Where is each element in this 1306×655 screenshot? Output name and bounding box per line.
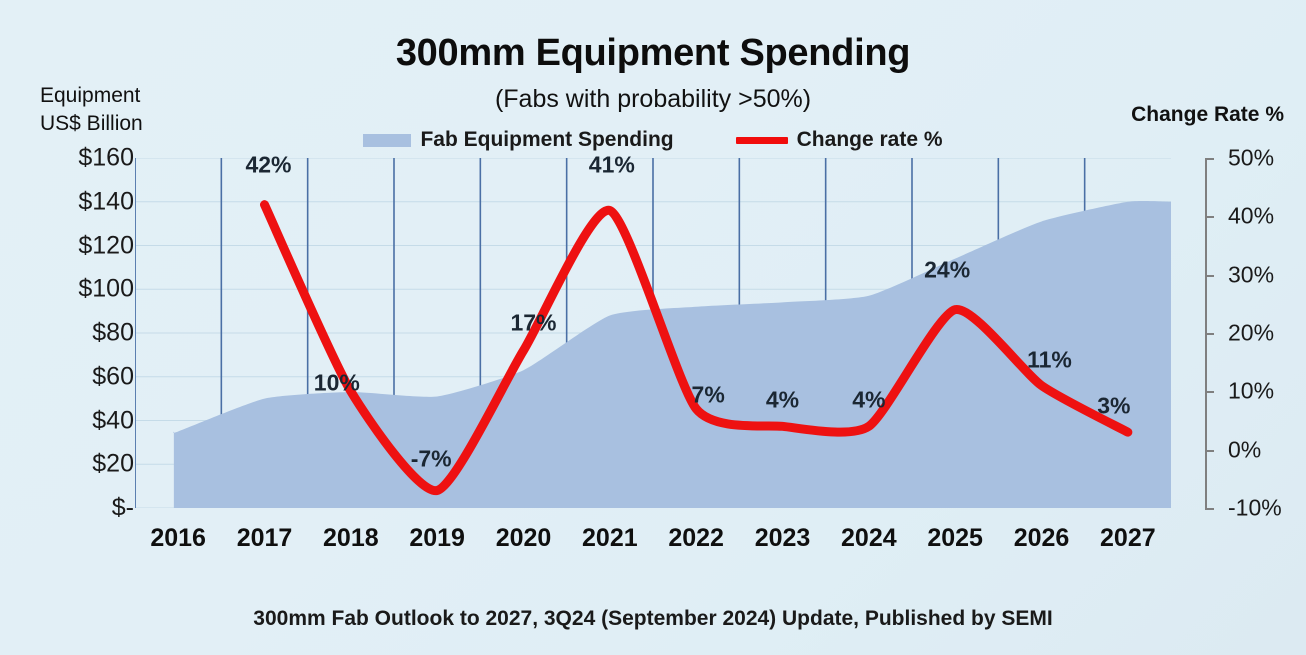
legend-label-fab-equipment-spending: Fab Equipment Spending — [420, 128, 673, 152]
y-axis-right-tick-label: 40% — [1228, 203, 1274, 230]
area-swatch-icon — [363, 134, 411, 147]
chart-page: 300mm Equipment Spending (Fabs with prob… — [0, 0, 1306, 655]
data-label-change-rate: 17% — [510, 309, 556, 336]
x-axis-tick-label: 2020 — [496, 524, 552, 553]
y-axis-right-tick-label: 20% — [1228, 320, 1274, 347]
y-axis-right-tick-mark — [1205, 450, 1214, 452]
x-axis-tick-label: 2016 — [150, 524, 206, 553]
y-axis-left-tick-label: $60 — [24, 362, 134, 391]
data-label-change-rate: 24% — [924, 256, 970, 283]
x-axis-tick-label: 2025 — [927, 524, 983, 553]
y-axis-title-left: Equipment US$ Billion — [40, 82, 143, 137]
y-axis-right-tick-mark — [1205, 391, 1214, 393]
x-axis-tick-label: 2024 — [841, 524, 897, 553]
y-axis-right-tick-label: 50% — [1228, 145, 1274, 172]
y-axis-right-tick-label: 10% — [1228, 378, 1274, 405]
data-label-change-rate: 7% — [692, 381, 725, 408]
chart-legend: Fab Equipment Spending Change rate % — [0, 128, 1306, 152]
data-label-change-rate: 4% — [852, 387, 885, 414]
data-label-change-rate: -7% — [411, 445, 452, 472]
chart-svg — [135, 158, 1171, 508]
y-axis-right-tick-mark — [1205, 508, 1214, 510]
data-label-change-rate: 41% — [589, 151, 635, 178]
x-axis-tick-label: 2022 — [668, 524, 724, 553]
data-label-change-rate: 10% — [314, 370, 360, 397]
y-axis-left-tick-label: $80 — [24, 319, 134, 348]
y-axis-right-tick-label: 30% — [1228, 261, 1274, 288]
data-label-change-rate: 42% — [245, 151, 291, 178]
legend-item-fab-equipment-spending[interactable]: Fab Equipment Spending — [363, 128, 673, 152]
data-label-change-rate: 3% — [1097, 393, 1130, 420]
y-axis-right-tick-label: 0% — [1228, 436, 1261, 463]
y-axis-left-tick-label: $- — [24, 494, 134, 523]
x-axis-tick-label: 2021 — [582, 524, 638, 553]
x-axis-tick-label: 2026 — [1014, 524, 1070, 553]
chart-footer-source: 300mm Fab Outlook to 2027, 3Q24 (Septemb… — [0, 607, 1306, 631]
y-axis-left-tick-label: $20 — [24, 450, 134, 479]
x-axis-tick-label: 2027 — [1100, 524, 1156, 553]
x-axis-tick-label: 2019 — [409, 524, 465, 553]
line-swatch-icon — [736, 137, 788, 144]
y-axis-left-tick-label: $140 — [24, 187, 134, 216]
y-axis-left-tick-label: $120 — [24, 231, 134, 260]
y-axis-right-tick-mark — [1205, 158, 1214, 160]
plot-area — [135, 158, 1171, 508]
y-axis-left-tick-label: $40 — [24, 406, 134, 435]
y-axis-title-right: Change Rate % — [1131, 103, 1284, 127]
x-axis-tick-label: 2018 — [323, 524, 379, 553]
legend-label-change-rate: Change rate % — [797, 128, 943, 152]
data-label-change-rate: 4% — [766, 387, 799, 414]
y-axis-right-tick-mark — [1205, 216, 1214, 218]
legend-item-change-rate[interactable]: Change rate % — [736, 128, 943, 152]
x-axis-tick-label: 2017 — [237, 524, 293, 553]
chart-subtitle: (Fabs with probability >50%) — [0, 85, 1306, 114]
x-axis-tick-label: 2023 — [755, 524, 811, 553]
y-axis-left-tick-label: $160 — [24, 144, 134, 173]
data-label-change-rate: 11% — [1027, 346, 1072, 373]
y-axis-right-tick-mark — [1205, 333, 1214, 335]
chart-title: 300mm Equipment Spending — [0, 32, 1306, 75]
y-axis-right-tick-label: -10% — [1228, 495, 1282, 522]
y-axis-right-tick-mark — [1205, 275, 1214, 277]
y-axis-left-tick-label: $100 — [24, 275, 134, 304]
